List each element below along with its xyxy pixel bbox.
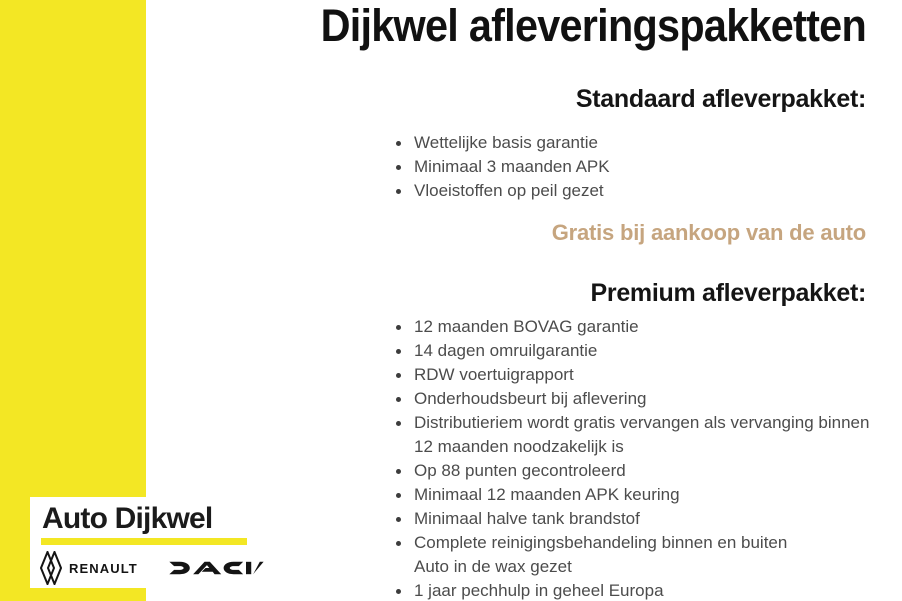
dacia-wordmark-icon — [168, 558, 264, 578]
heading-premium-afleverpakket: Premium afleverpakket: — [150, 278, 866, 308]
brand-logos: RENAULT — [40, 551, 260, 587]
list-item-text: Minimaal 3 maanden APK — [414, 157, 610, 176]
list-item-text: 14 dagen omruilgarantie — [414, 341, 597, 360]
list-item-text: Op 88 punten gecontroleerd — [414, 461, 626, 480]
list-item: Op 88 punten gecontroleerd — [392, 459, 892, 483]
tagline-gratis-bij-aankoop: Gratis bij aankoop van de auto — [150, 219, 866, 247]
list-item-text: RDW voertuigrapport — [414, 365, 574, 384]
page-title: Dijkwel afleveringspakketten — [207, 0, 866, 54]
list-item: 14 dagen omruilgarantie — [392, 339, 892, 363]
list-item: RDW voertuigrapport — [392, 363, 892, 387]
list-item: 1 jaar pechhulp in geheel Europa — [392, 579, 892, 601]
list-item: Minimaal halve tank brandstof — [392, 507, 892, 531]
poster-root: Dijkwel afleveringspakketten Standaard a… — [0, 0, 902, 601]
brand-renault-label: RENAULT — [69, 561, 138, 576]
list-item-text: Vloeistoffen op peil gezet — [414, 181, 604, 200]
list-item-text: Onderhoudsbeurt bij aflevering — [414, 389, 646, 408]
logo-wordmark-auto-dijkwel: Auto Dijkwel — [42, 501, 212, 537]
list-item: 12 maanden BOVAG garantie — [392, 315, 892, 339]
list-item-text: Distributieriem wordt gratis vervangen a… — [414, 413, 869, 456]
list-item-text: Wettelijke basis garantie — [414, 133, 598, 152]
dealer-logo-block: Auto Dijkwel RENAULT — [30, 497, 260, 588]
list-item: Complete reinigingsbehandeling binnen en… — [392, 531, 892, 579]
list-item-text: Complete reinigingsbehandeling binnen en… — [414, 533, 787, 552]
list-item: Vloeistoffen op peil gezet — [392, 179, 892, 203]
list-item-text: 1 jaar pechhulp in geheel Europa — [414, 581, 664, 600]
heading-standaard-afleverpakket: Standaard afleverpakket: — [150, 84, 866, 114]
brand-renault: RENAULT — [40, 551, 138, 585]
content-column: Dijkwel afleveringspakketten Standaard a… — [150, 0, 886, 601]
list-item-text: Minimaal 12 maanden APK keuring — [414, 485, 680, 504]
premium-feature-list: 12 maanden BOVAG garantie 14 dagen omrui… — [392, 315, 892, 601]
list-item-text: Minimaal halve tank brandstof — [414, 509, 640, 528]
renault-diamond-icon — [40, 551, 62, 585]
list-item: Minimaal 12 maanden APK keuring — [392, 483, 892, 507]
standaard-feature-list: Wettelijke basis garantie Minimaal 3 maa… — [392, 131, 892, 203]
list-item: Minimaal 3 maanden APK — [392, 155, 892, 179]
list-item: Onderhoudsbeurt bij aflevering — [392, 387, 892, 411]
list-item-text: 12 maanden BOVAG garantie — [414, 317, 639, 336]
list-item: Wettelijke basis garantie — [392, 131, 892, 155]
list-item: Distributieriem wordt gratis vervangen a… — [392, 411, 892, 459]
list-item-continuation: Auto in de wax gezet — [414, 555, 892, 579]
logo-yellow-rule — [41, 538, 247, 545]
